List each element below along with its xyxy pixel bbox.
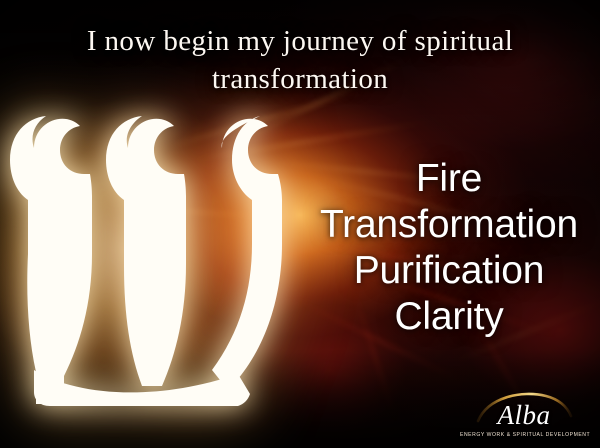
- alba-logo: Alba ENERGY WORK & SPIRITUAL DEVELOPMENT: [460, 388, 588, 442]
- hebrew-letter-shin: [6, 104, 306, 410]
- headline-line-2: transformation: [212, 63, 388, 95]
- keyword-clarity: Clarity: [300, 294, 598, 340]
- shin-icon: [6, 104, 306, 410]
- keyword-fire: Fire: [300, 156, 598, 202]
- logo-tagline: ENERGY WORK & SPIRITUAL DEVELOPMENT: [460, 432, 588, 438]
- headline-affirmation: I now begin my journey of spiritual tran…: [0, 22, 600, 99]
- keyword-list: Fire Transformation Purification Clarity: [300, 156, 598, 340]
- keyword-transformation: Transformation: [300, 202, 598, 248]
- keyword-purification: Purification: [300, 248, 598, 294]
- inspirational-graphic: I now begin my journey of spiritual tran…: [0, 0, 600, 448]
- logo-wordmark: Alba: [460, 400, 588, 431]
- headline-line-1: I now begin my journey of spiritual: [87, 25, 513, 57]
